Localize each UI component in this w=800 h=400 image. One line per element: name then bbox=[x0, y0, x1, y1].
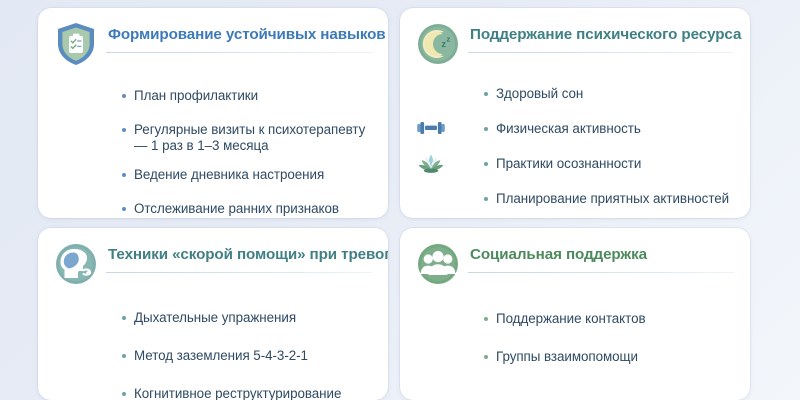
list-item-label: Группы взаимопомощи bbox=[496, 349, 638, 364]
bullet-list: Здоровый сон Физическая активность bbox=[400, 86, 750, 207]
bullet-dot bbox=[122, 354, 126, 358]
list-item: Практики осознанности bbox=[400, 156, 736, 172]
list-item: Планирование приятных активностей bbox=[400, 191, 736, 207]
list-item-label: Практики осознанности bbox=[496, 156, 641, 171]
list-item: План профилактики bbox=[38, 88, 374, 104]
card-social-support: Социальная поддержка Поддержание контакт… bbox=[400, 228, 750, 400]
card-title: Социальная поддержка bbox=[470, 246, 647, 263]
card-title: Техники «скорой помощи» при тревоге bbox=[108, 246, 388, 263]
title-divider bbox=[106, 52, 372, 53]
moon-sleep-icon: z z bbox=[414, 20, 462, 68]
card-header: Техники «скорой помощи» при тревоге bbox=[38, 228, 388, 286]
card-header: Формирование устойчивых навыков bbox=[38, 8, 388, 66]
dumbbell-icon bbox=[414, 113, 448, 143]
card-header: Социальная поддержка bbox=[400, 228, 750, 286]
list-item: Когнитивное реструктурирование bbox=[38, 386, 374, 400]
card-mental-resource: z z Поддержание психического ресурса Здо… bbox=[400, 8, 750, 218]
title-divider bbox=[106, 272, 372, 273]
list-item: Группы взаимопомощи bbox=[400, 349, 736, 365]
bullet-dot bbox=[484, 127, 488, 131]
bullet-dot bbox=[484, 317, 488, 321]
bullet-dot bbox=[122, 207, 126, 211]
bullet-dot bbox=[484, 197, 488, 201]
bullet-list: План профилактики Регулярные визиты к пс… bbox=[38, 88, 388, 218]
breathing-head-icon bbox=[52, 240, 100, 288]
svg-text:z: z bbox=[447, 35, 451, 44]
bullet-dot bbox=[122, 173, 126, 177]
bullet-dot bbox=[484, 162, 488, 166]
list-item-label: Дыхательные упражнения bbox=[134, 310, 296, 325]
list-item: Метод заземления 5-4-3-2-1 bbox=[38, 348, 374, 364]
list-item-label: План профилактики bbox=[134, 88, 258, 103]
list-item: Физическая активность bbox=[400, 121, 736, 137]
list-item-label: Поддержание контактов bbox=[496, 311, 646, 326]
list-item-label: Планирование приятных активностей bbox=[496, 191, 729, 206]
list-item: Поддержание контактов bbox=[400, 311, 736, 327]
list-item-label: Регулярные визиты к психотерапевту — 1 р… bbox=[134, 122, 365, 153]
list-item: Ведение дневника настроения bbox=[38, 167, 374, 183]
title-divider bbox=[468, 272, 734, 273]
title-divider bbox=[468, 52, 734, 53]
bullet-dot bbox=[122, 392, 126, 396]
bullet-list: Поддержание контактов Группы взаимопомощ… bbox=[400, 311, 750, 365]
list-item: Регулярные визиты к психотерапевту — 1 р… bbox=[38, 122, 374, 154]
shield-checklist-icon bbox=[52, 20, 100, 68]
list-item-label: Ведение дневника настроения bbox=[134, 167, 324, 182]
card-title: Формирование устойчивых навыков bbox=[108, 26, 386, 43]
list-item-label: Здоровый сон bbox=[496, 86, 583, 101]
lotus-icon bbox=[414, 148, 448, 178]
list-item-label: Отслеживание ранних признаков ухудшения bbox=[134, 201, 339, 218]
list-item: Дыхательные упражнения bbox=[38, 310, 374, 326]
list-item: Отслеживание ранних признаков ухудшения bbox=[38, 201, 374, 218]
list-item-label: Физическая активность bbox=[496, 121, 641, 136]
card-skills: Формирование устойчивых навыков План про… bbox=[38, 8, 388, 218]
card-title: Поддержание психического ресурса bbox=[470, 26, 741, 43]
bullet-dot bbox=[122, 128, 126, 132]
bullet-dot bbox=[484, 92, 488, 96]
bullet-list: Дыхательные упражнения Метод заземления … bbox=[38, 310, 388, 400]
bullet-dot bbox=[484, 355, 488, 359]
card-header: z z Поддержание психического ресурса bbox=[400, 8, 750, 66]
bullet-dot bbox=[122, 316, 126, 320]
people-group-icon bbox=[414, 240, 462, 288]
list-item-label: Метод заземления 5-4-3-2-1 bbox=[134, 348, 308, 363]
cards-board: Формирование устойчивых навыков План про… bbox=[0, 0, 800, 400]
list-item: Здоровый сон bbox=[400, 86, 736, 102]
card-emergency-techniques: Техники «скорой помощи» при тревоге Дыха… bbox=[38, 228, 388, 400]
bullet-dot bbox=[122, 94, 126, 98]
list-item-label: Когнитивное реструктурирование bbox=[134, 386, 341, 400]
